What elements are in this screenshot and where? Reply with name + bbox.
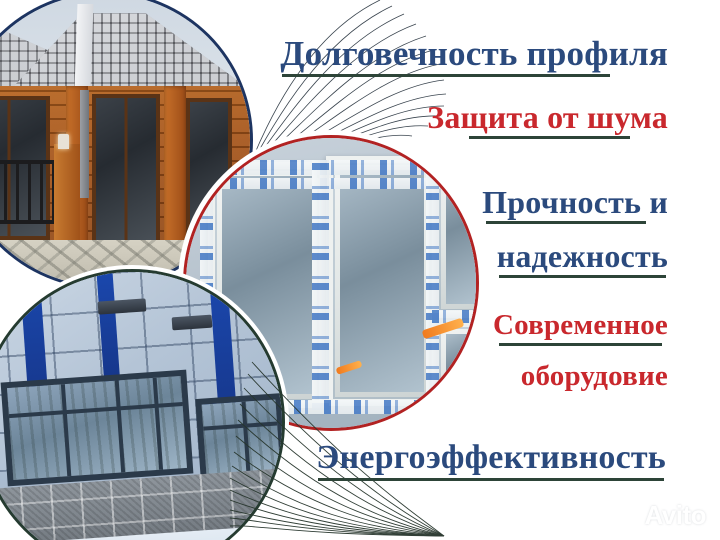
benefit-text: Прочность и <box>482 186 668 218</box>
benefit-text: Современное <box>493 311 668 340</box>
facade-vent <box>172 315 213 331</box>
benefit-underline <box>318 478 664 481</box>
avito-wordmark: Avito <box>644 500 706 531</box>
benefit-text: надежность <box>497 240 668 272</box>
wall-corner-post <box>164 86 186 248</box>
house-window <box>92 94 160 248</box>
benefit-line-2: Защита от шума <box>427 101 668 139</box>
roof-ridge <box>74 4 93 90</box>
porch-pillar <box>54 144 80 248</box>
photo-circle-facade-building <box>0 272 282 540</box>
downpipe <box>80 90 89 198</box>
benefit-text: Защита от шума <box>427 101 668 133</box>
facade-building-photo <box>0 272 282 540</box>
benefit-underline <box>469 136 630 139</box>
benefits-list: Долговечность профиля Защита от шума Про… <box>250 0 682 540</box>
benefit-text: Долговечность профиля <box>280 36 668 71</box>
avito-watermark: Avito <box>615 500 706 531</box>
benefit-line-5: Современное <box>493 311 668 346</box>
benefit-line-7: Энергоэффективность <box>316 441 666 481</box>
benefit-line-6: оборудовие <box>521 362 668 391</box>
benefit-underline <box>486 221 646 224</box>
benefit-text: оборудовие <box>521 362 668 391</box>
avito-dots-icon <box>615 505 639 527</box>
storefront-window <box>1 370 194 487</box>
benefit-underline <box>282 74 610 77</box>
benefit-line-1: Долговечность профиля <box>280 36 668 77</box>
benefit-text: Энергоэффективность <box>316 441 666 475</box>
benefit-underline <box>499 343 662 346</box>
benefit-underline <box>499 275 666 278</box>
poster-canvas: Долговечность профиля Защита от шума Про… <box>0 0 720 540</box>
benefit-line-4: надежность <box>497 240 668 278</box>
benefit-line-3: Прочность и <box>482 186 668 224</box>
wall-lamp <box>58 134 69 149</box>
